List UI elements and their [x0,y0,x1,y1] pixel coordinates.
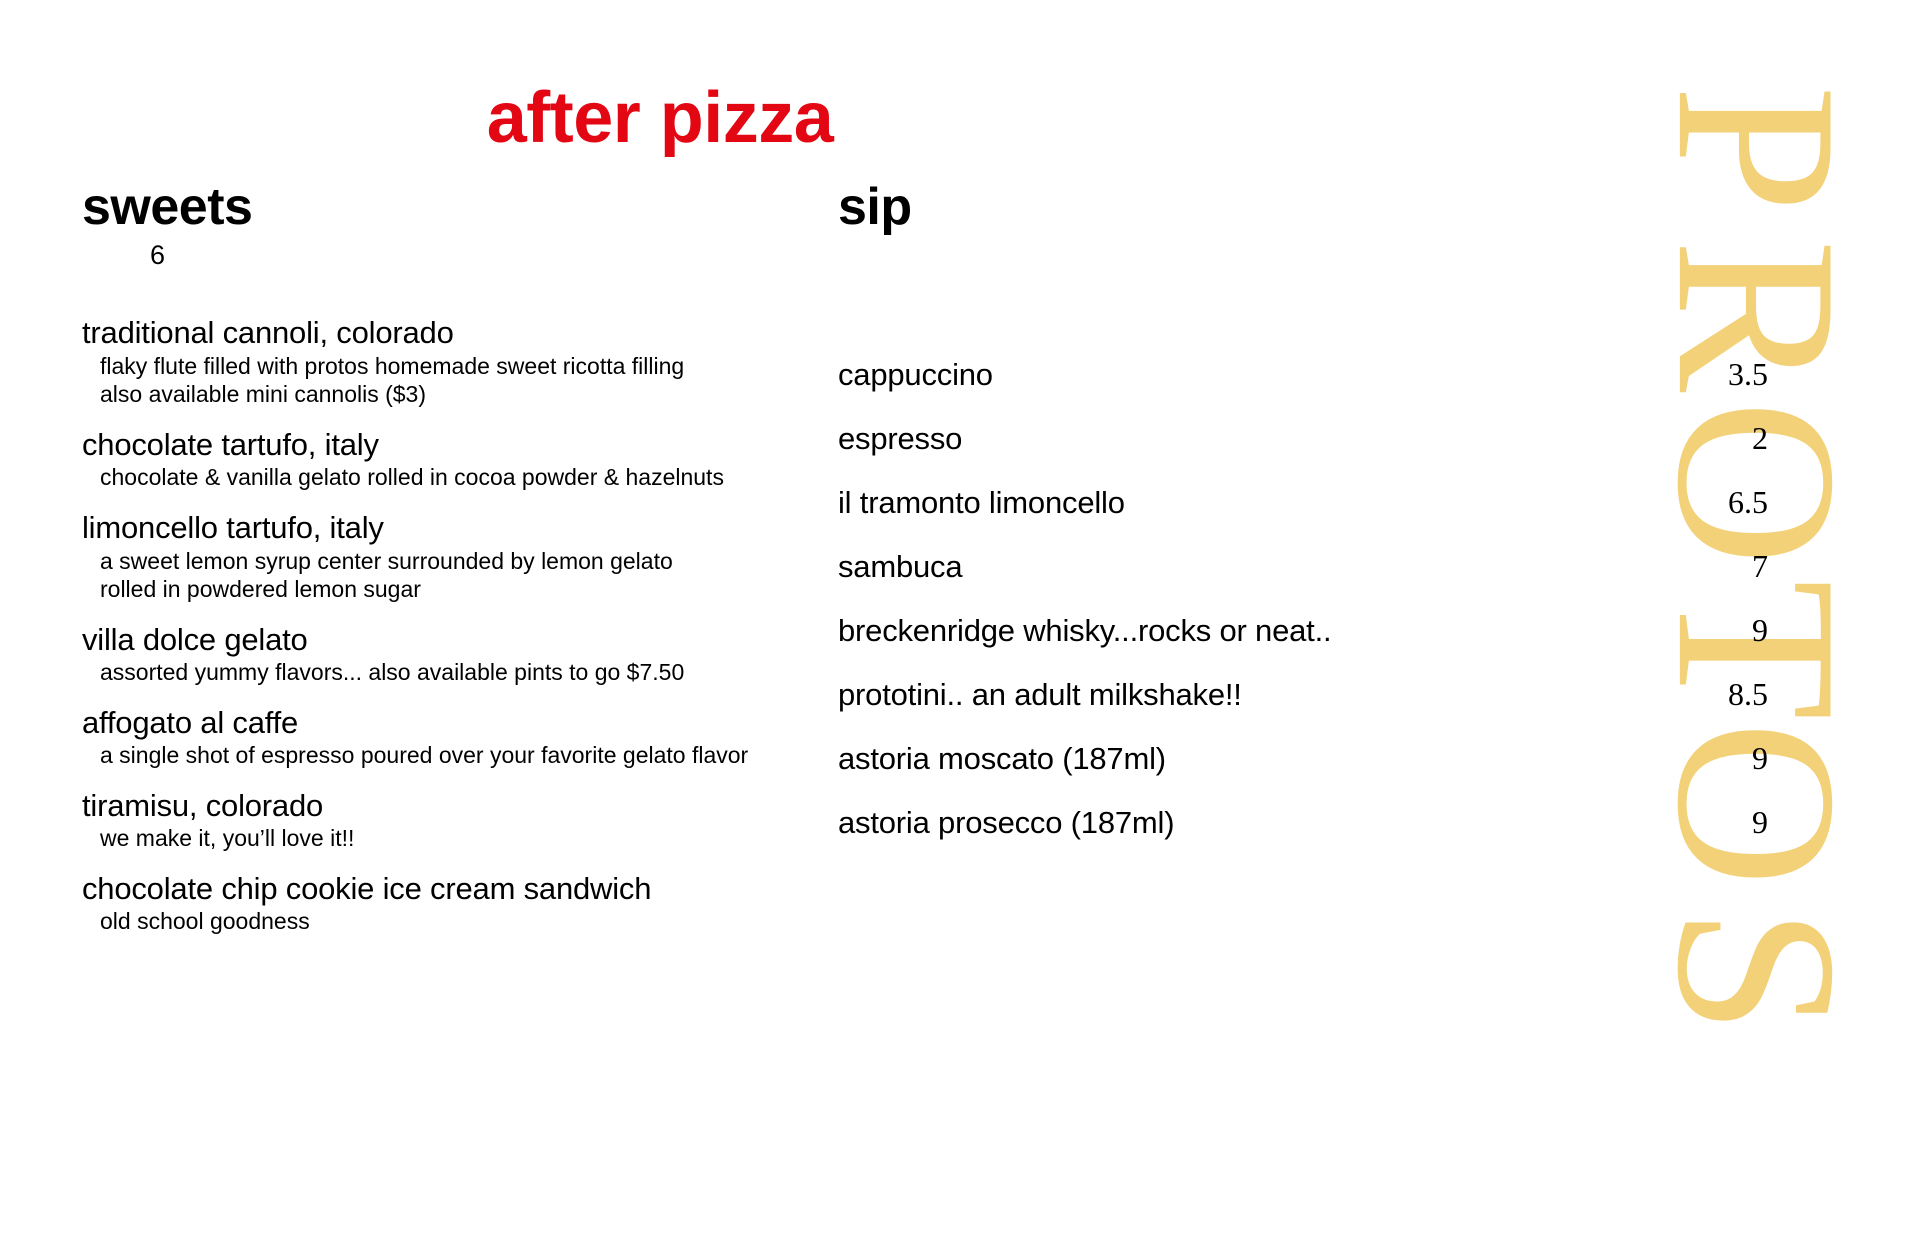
menu-columns: sweets 6 traditional cannoli, colorado f… [0,0,1920,1243]
sip-item-price: 9 [1708,803,1768,841]
sip-item-price: 8.5 [1708,675,1768,713]
sweets-price: 6 [150,241,802,271]
sweet-item-description: rolled in powdered lemon sugar [100,575,802,604]
sip-item-price: 9 [1708,611,1768,649]
sip-item-name: espresso [838,420,962,457]
list-item: traditional cannoli, colorado flaky flut… [82,315,802,409]
sip-heading: sip [838,180,1768,235]
sip-item-price: 7 [1708,547,1768,585]
sip-item-name: prototini.. an adult milkshake!! [838,676,1242,713]
sweets-section: sweets 6 traditional cannoli, colorado f… [82,180,802,954]
sweet-item-description: assorted yummy flavors... also available… [100,658,802,687]
sweet-item-description: a single shot of espresso poured over yo… [100,741,802,770]
sweet-item-description: a sweet lemon syrup center surrounded by… [100,547,802,576]
list-item: prototini.. an adult milkshake!! 8.5 [838,675,1768,739]
sip-item-price: 6.5 [1708,483,1768,521]
sip-item-price: 2 [1708,419,1768,457]
sweet-item-name: limoncello tartufo, italy [82,510,802,547]
sweet-item-name: villa dolce gelato [82,622,802,659]
list-item: breckenridge whisky...rocks or neat.. 9 [838,611,1768,675]
list-item: chocolate tartufo, italy chocolate & van… [82,427,802,492]
sip-item-name: cappuccino [838,356,993,393]
list-item: cappuccino 3.5 [838,355,1768,419]
sweet-item-description: we make it, you’ll love it!! [100,824,802,853]
list-item: astoria prosecco (187ml) 9 [838,803,1768,867]
sweet-item-name: affogato al caffe [82,705,802,742]
sip-item-name: breckenridge whisky...rocks or neat.. [838,612,1331,649]
list-item: sambuca 7 [838,547,1768,611]
sip-item-name: il tramonto limoncello [838,484,1125,521]
list-item: villa dolce gelato assorted yummy flavor… [82,622,802,687]
sweet-item-description: flaky flute filled with protos homemade … [100,352,802,381]
sweet-item-description: chocolate & vanilla gelato rolled in coc… [100,463,802,492]
sip-item-name: sambuca [838,548,962,585]
sweet-item-description: also available mini cannolis ($3) [100,380,802,409]
sweets-heading: sweets [82,180,802,235]
sip-item-price: 9 [1708,739,1768,777]
sip-item-price: 3.5 [1708,355,1768,393]
sweet-item-description: old school goodness [100,907,802,936]
list-item: tiramisu, colorado we make it, you’ll lo… [82,788,802,853]
list-item: limoncello tartufo, italy a sweet lemon … [82,510,802,604]
list-item: espresso 2 [838,419,1768,483]
sweets-item-list: traditional cannoli, colorado flaky flut… [82,315,802,936]
menu-page: P R O T O S after pizza sweets 6 traditi… [0,0,1920,1243]
sweet-item-name: tiramisu, colorado [82,788,802,825]
list-item: affogato al caffe a single shot of espre… [82,705,802,770]
list-item: astoria moscato (187ml) 9 [838,739,1768,803]
list-item: chocolate chip cookie ice cream sandwich… [82,871,802,936]
sweet-item-name: chocolate chip cookie ice cream sandwich [82,871,802,908]
list-item: il tramonto limoncello 6.5 [838,483,1768,547]
sweet-item-name: chocolate tartufo, italy [82,427,802,464]
sip-item-name: astoria moscato (187ml) [838,740,1166,777]
sip-section: sip cappuccino 3.5 espresso 2 il tramont… [838,180,1768,867]
sip-item-name: astoria prosecco (187ml) [838,804,1174,841]
sweet-item-name: traditional cannoli, colorado [82,315,802,352]
sip-item-list: cappuccino 3.5 espresso 2 il tramonto li… [838,355,1768,867]
